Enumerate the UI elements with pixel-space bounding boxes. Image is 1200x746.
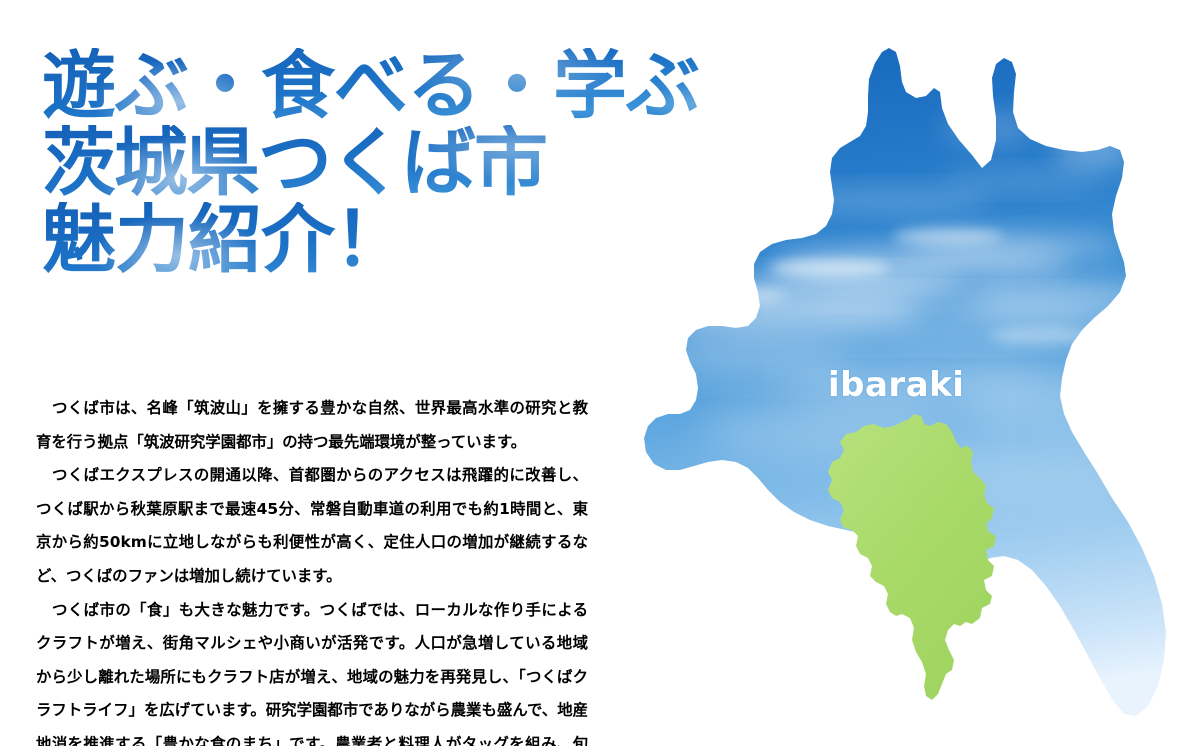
body-paragraph-3: つくば市の「食」も大きな魅力です。つくばでは、ローカルな作り手によるクラフトが増…: [36, 594, 588, 746]
map-label-ibaraki: ibaraki: [828, 366, 964, 404]
page-title: 遊ぶ・食べる・学ぶ 茨城県つくば市 魅力紹介！: [42, 48, 802, 279]
tsukuba-city-shape: [828, 414, 996, 700]
title-line-2: 茨城県つくば市: [42, 125, 802, 202]
title-line-3: 魅力紹介！: [42, 202, 802, 279]
body-copy: つくば市は、名峰「筑波山」を擁する豊かな自然、世界最高水準の研究と教育を行う拠点…: [36, 392, 588, 746]
title-line-1: 遊ぶ・食べる・学ぶ: [42, 48, 802, 125]
body-paragraph-1: つくば市は、名峰「筑波山」を擁する豊かな自然、世界最高水準の研究と教育を行う拠点…: [36, 392, 588, 459]
poster-root: ibaraki 遊ぶ・食べる・学ぶ 茨城県つくば市 魅力紹介！ つくば市は、名峰…: [0, 0, 1200, 746]
body-paragraph-2: つくばエクスプレスの開通以降、首都圏からのアクセスは飛躍的に改善し、つくば駅から…: [36, 459, 588, 593]
